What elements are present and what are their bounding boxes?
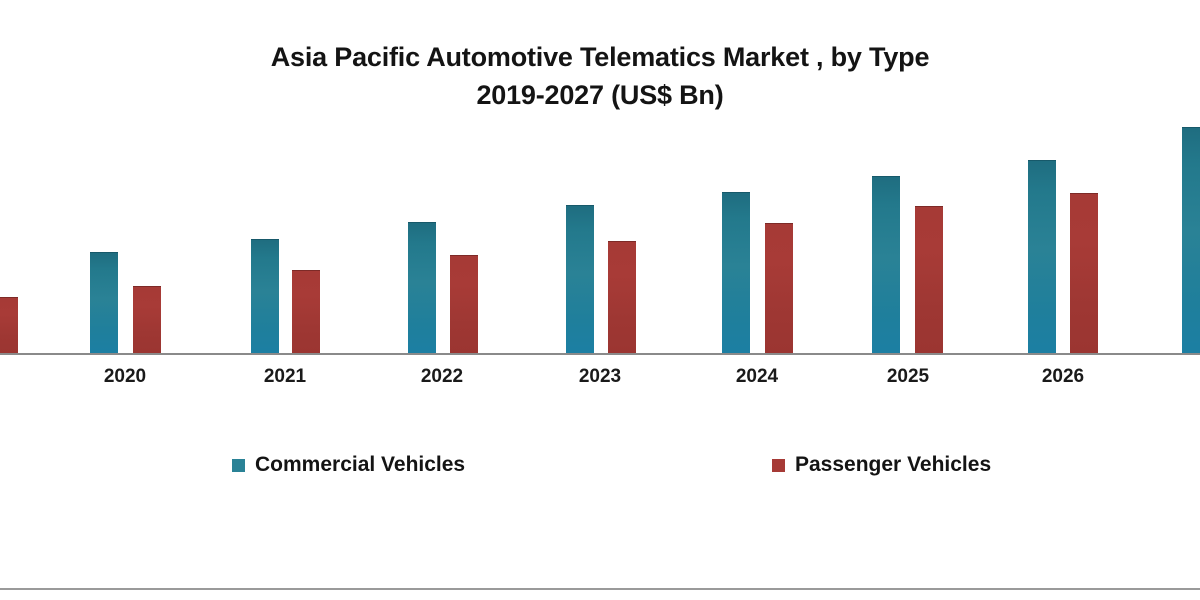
legend-item-commercial-vehicles[interactable]: Commercial Vehicles [232,453,465,477]
legend-swatch-icon [232,459,245,472]
chart-page: Asia Pacific Automotive Telematics Marke… [0,0,1200,600]
x-axis-line [0,353,1200,355]
legend-label: Passenger Vehicles [795,453,991,477]
bar-2024-commercial [722,192,750,353]
bar-2019-passenger [0,297,18,353]
bar-2022-passenger [450,255,478,353]
bar-2025-commercial [872,176,900,353]
bottom-divider [0,588,1200,590]
x-tick-2020: 2020 [85,366,165,388]
legend-swatch-icon [772,459,785,472]
x-tick-2022: 2022 [402,366,482,388]
bar-2026-passenger [1070,193,1098,353]
legend-item-passenger-vehicles[interactable]: Passenger Vehicles [772,453,991,477]
x-tick-2026: 2026 [1023,366,1103,388]
bar-2021-commercial [251,239,279,353]
x-tick-2023: 2023 [560,366,640,388]
x-tick-2025: 2025 [868,366,948,388]
bar-2020-passenger [133,286,161,353]
x-tick-2024: 2024 [717,366,797,388]
legend-label: Commercial Vehicles [255,453,465,477]
chart-legend: Commercial VehiclesPassenger Vehicles [0,453,1200,483]
bar-2021-passenger [292,270,320,353]
x-axis-labels: 2020202120222023202420252026 [0,366,1200,396]
bar-2027-commercial [1182,127,1200,353]
bar-2023-passenger [608,241,636,353]
x-tick-2021: 2021 [245,366,325,388]
bar-2024-passenger [765,223,793,353]
chart-title: Asia Pacific Automotive Telematics Marke… [0,38,1200,114]
plot-area [0,120,1200,355]
bar-2023-commercial [566,205,594,353]
bar-2022-commercial [408,222,436,353]
bar-2026-commercial [1028,160,1056,353]
bar-2020-commercial [90,252,118,353]
bar-2025-passenger [915,206,943,353]
